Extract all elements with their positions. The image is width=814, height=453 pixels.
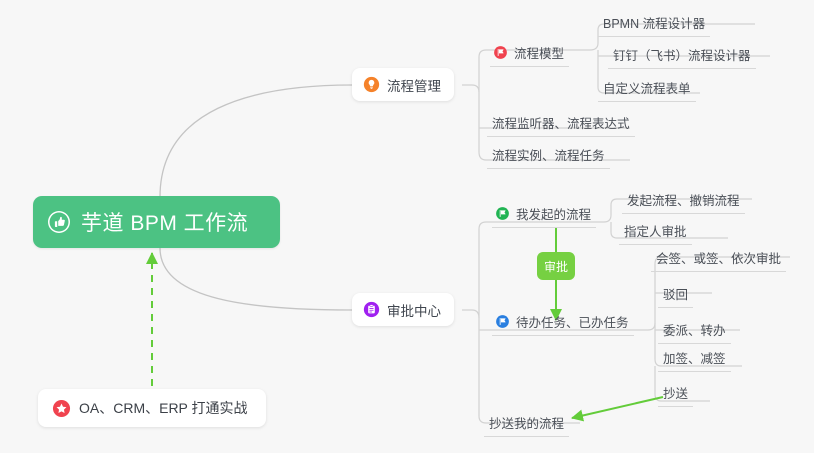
leaf-designated-approval[interactable]: 指定人审批 xyxy=(619,219,692,245)
flag-icon xyxy=(493,45,508,60)
root-label: 芋道 BPM 工作流 xyxy=(81,207,248,237)
leaf-reject[interactable]: 驳回 xyxy=(658,282,693,308)
leaf-instance-task[interactable]: 流程实例、流程任务 xyxy=(487,143,610,169)
leaf-cc[interactable]: 抄送 xyxy=(658,381,693,407)
branch-label: 流程管理 xyxy=(387,75,441,95)
leaf-dingtalk-designer[interactable]: 钉钉（飞书）流程设计器 xyxy=(608,43,756,69)
branch-node-process-management[interactable]: 流程管理 xyxy=(352,68,454,101)
leaf-listener-expression[interactable]: 流程监听器、流程表达式 xyxy=(487,111,635,137)
branch-node-approval-center[interactable]: 审批中心 xyxy=(352,293,454,326)
link-root-to-approval-center xyxy=(160,248,352,310)
clipboard-icon xyxy=(363,301,380,318)
annotation-tag-label: 审批 xyxy=(544,258,568,275)
leaf-custom-form[interactable]: 自定义流程表单 xyxy=(598,76,696,102)
leaf-cc-to-me[interactable]: 抄送我的流程 xyxy=(484,411,569,437)
leaf-start-cancel-process[interactable]: 发起流程、撤销流程 xyxy=(622,188,745,214)
leaf-countersign[interactable]: 会签、或签、依次审批 xyxy=(651,246,786,272)
link-ac-to-mine xyxy=(479,222,592,318)
mindmap-canvas: 芋道 BPM 工作流 流程管理 流程模型 BPMN 流程设计器 钉钉（飞书）流程… xyxy=(0,0,814,453)
link-root-to-process-management xyxy=(160,85,352,197)
leaf-todo-done-tasks[interactable]: 待办任务、已办任务 xyxy=(492,310,634,336)
annotation-arrow-left xyxy=(572,397,663,418)
leaf-process-model[interactable]: 流程模型 xyxy=(490,41,569,67)
branch-label: 审批中心 xyxy=(387,300,441,320)
note-card-label: OA、CRM、ERP 打通实战 xyxy=(79,398,248,418)
leaf-label: 我发起的流程 xyxy=(516,204,591,223)
root-node[interactable]: 芋道 BPM 工作流 xyxy=(33,196,280,248)
leaf-label: 待办任务、已办任务 xyxy=(516,312,629,331)
note-card-integration[interactable]: OA、CRM、ERP 打通实战 xyxy=(38,389,266,427)
flag-icon xyxy=(495,206,510,221)
star-icon xyxy=(52,399,71,418)
flag-icon xyxy=(495,314,510,329)
leaf-add-remove-sign[interactable]: 加签、减签 xyxy=(658,346,731,372)
leaf-label: 流程模型 xyxy=(514,43,564,62)
leaf-bpmn-designer[interactable]: BPMN 流程设计器 xyxy=(598,11,710,37)
annotation-tag-approval: 审批 xyxy=(537,252,575,280)
leaf-my-started-process[interactable]: 我发起的流程 xyxy=(492,202,596,228)
lightbulb-icon xyxy=(363,76,380,93)
leaf-delegate-transfer[interactable]: 委派、转办 xyxy=(658,318,731,344)
thumbs-up-icon xyxy=(47,210,71,234)
